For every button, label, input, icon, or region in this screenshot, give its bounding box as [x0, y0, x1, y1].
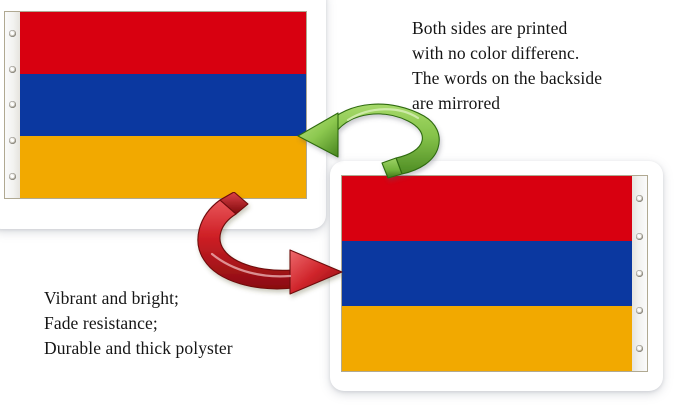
flag-card-front — [0, 0, 326, 229]
grommet-icon — [9, 30, 16, 37]
callout-text-vibrant-durable: Vibrant and bright; Fade resistance; Dur… — [44, 286, 334, 361]
callout-text-both-sides-printed: Both sides are printed with no color dif… — [412, 16, 674, 115]
flag-back-stripe-yellow — [342, 306, 632, 371]
flag-back-stripes — [342, 176, 632, 371]
grommet-icon — [636, 307, 643, 314]
flag-front-hoist-band — [5, 12, 20, 198]
grommet-icon — [636, 233, 643, 240]
grommet-icon — [9, 66, 16, 73]
flag-back-stripe-red — [342, 176, 632, 241]
flag-front — [4, 11, 307, 199]
grommet-icon — [636, 345, 643, 352]
flag-front-stripe-yellow — [20, 136, 306, 198]
grommet-icon — [9, 173, 16, 180]
flag-front-stripe-blue — [20, 74, 306, 136]
product-infographic: Both sides are printed with no color dif… — [0, 0, 679, 408]
flag-front-stripe-red — [20, 12, 306, 74]
flag-front-stripes — [20, 12, 306, 198]
flag-back-stripe-blue — [342, 241, 632, 306]
flag-back-hoist-band — [632, 176, 647, 371]
grommet-icon — [9, 101, 16, 108]
grommet-icon — [636, 270, 643, 277]
grommet-icon — [636, 195, 643, 202]
flag-back — [341, 175, 648, 372]
grommet-icon — [9, 137, 16, 144]
flag-card-back — [330, 161, 663, 391]
